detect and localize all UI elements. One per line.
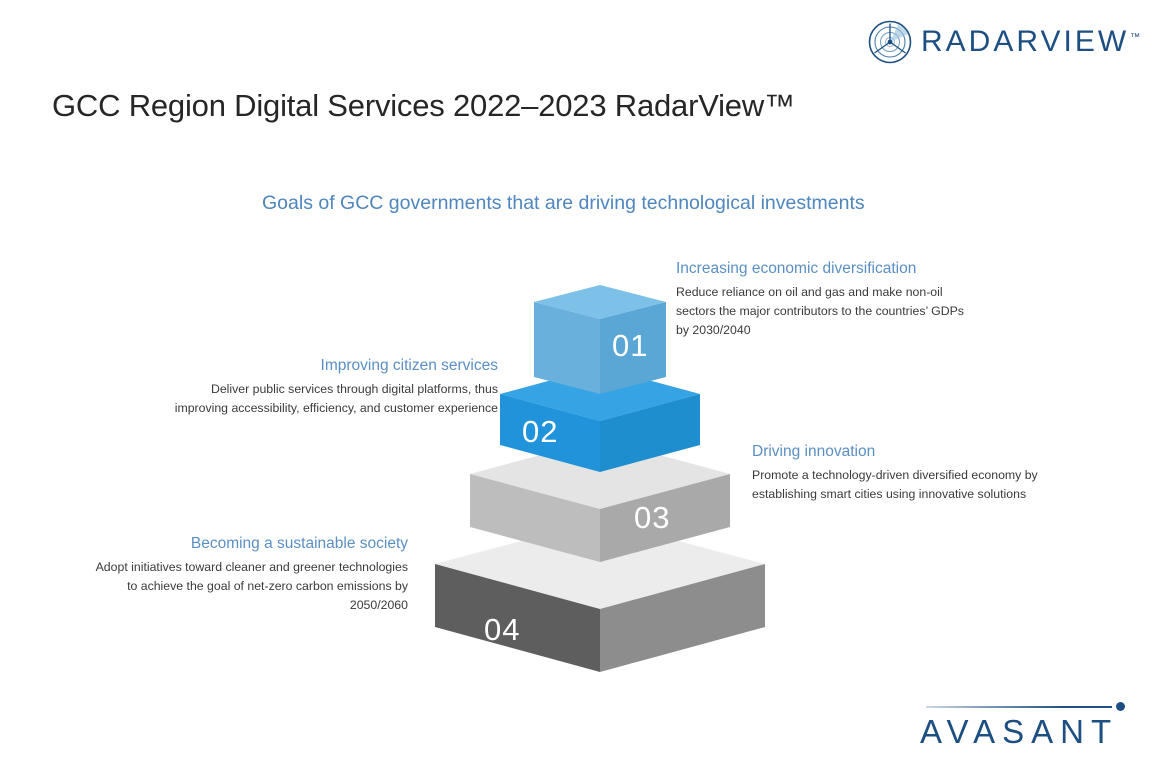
callout-body-line: to achieve the goal of net-zero carbon e… — [40, 577, 408, 596]
level-02-number: 02 — [522, 414, 558, 449]
callout-body-line: Promote a technology-driven diversified … — [752, 466, 1097, 485]
radarview-wordmark: RADARVIEW™ — [921, 27, 1140, 57]
callout-body: Adopt initiatives toward cleaner and gre… — [40, 558, 408, 614]
avasant-rule — [926, 706, 1112, 708]
callout-body: Promote a technology-driven diversified … — [752, 466, 1097, 503]
callout-becoming-a-sustainable-society: Becoming a sustainable society Adopt ini… — [40, 534, 408, 614]
pyramid-level-01[interactable]: 01 — [534, 285, 666, 394]
page-title: GCC Region Digital Services 2022–2023 Ra… — [52, 88, 795, 124]
callout-body-line: Adopt initiatives toward cleaner and gre… — [40, 558, 408, 577]
callout-heading: Driving innovation — [752, 442, 1097, 461]
radarview-logo: RADARVIEW™ — [868, 20, 1140, 64]
level-01-number: 01 — [612, 328, 648, 363]
slide-canvas: RADARVIEW™ GCC Region Digital Services 2… — [0, 0, 1152, 768]
callout-heading: Becoming a sustainable society — [40, 534, 408, 553]
avasant-dot-icon — [1116, 702, 1125, 711]
level-04-number: 04 — [484, 612, 520, 647]
pyramid-diagram: 04 03 02 01 — [410, 272, 800, 672]
avasant-wordmark: AVASANT — [920, 714, 1118, 750]
callout-body-line: establishing smart cities using innovati… — [752, 485, 1097, 504]
callout-driving-innovation: Driving innovation Promote a technology-… — [752, 442, 1097, 504]
radarview-wordmark-text: RADARVIEW — [921, 25, 1129, 58]
avasant-logo: AVASANT — [920, 700, 1130, 752]
radarview-trademark: ™ — [1130, 32, 1140, 43]
section-subtitle: Goals of GCC governments that are drivin… — [262, 192, 865, 215]
level-03-number: 03 — [634, 500, 670, 535]
radar-target-icon — [868, 20, 912, 64]
callout-body-line: 2050/2060 — [40, 596, 408, 615]
